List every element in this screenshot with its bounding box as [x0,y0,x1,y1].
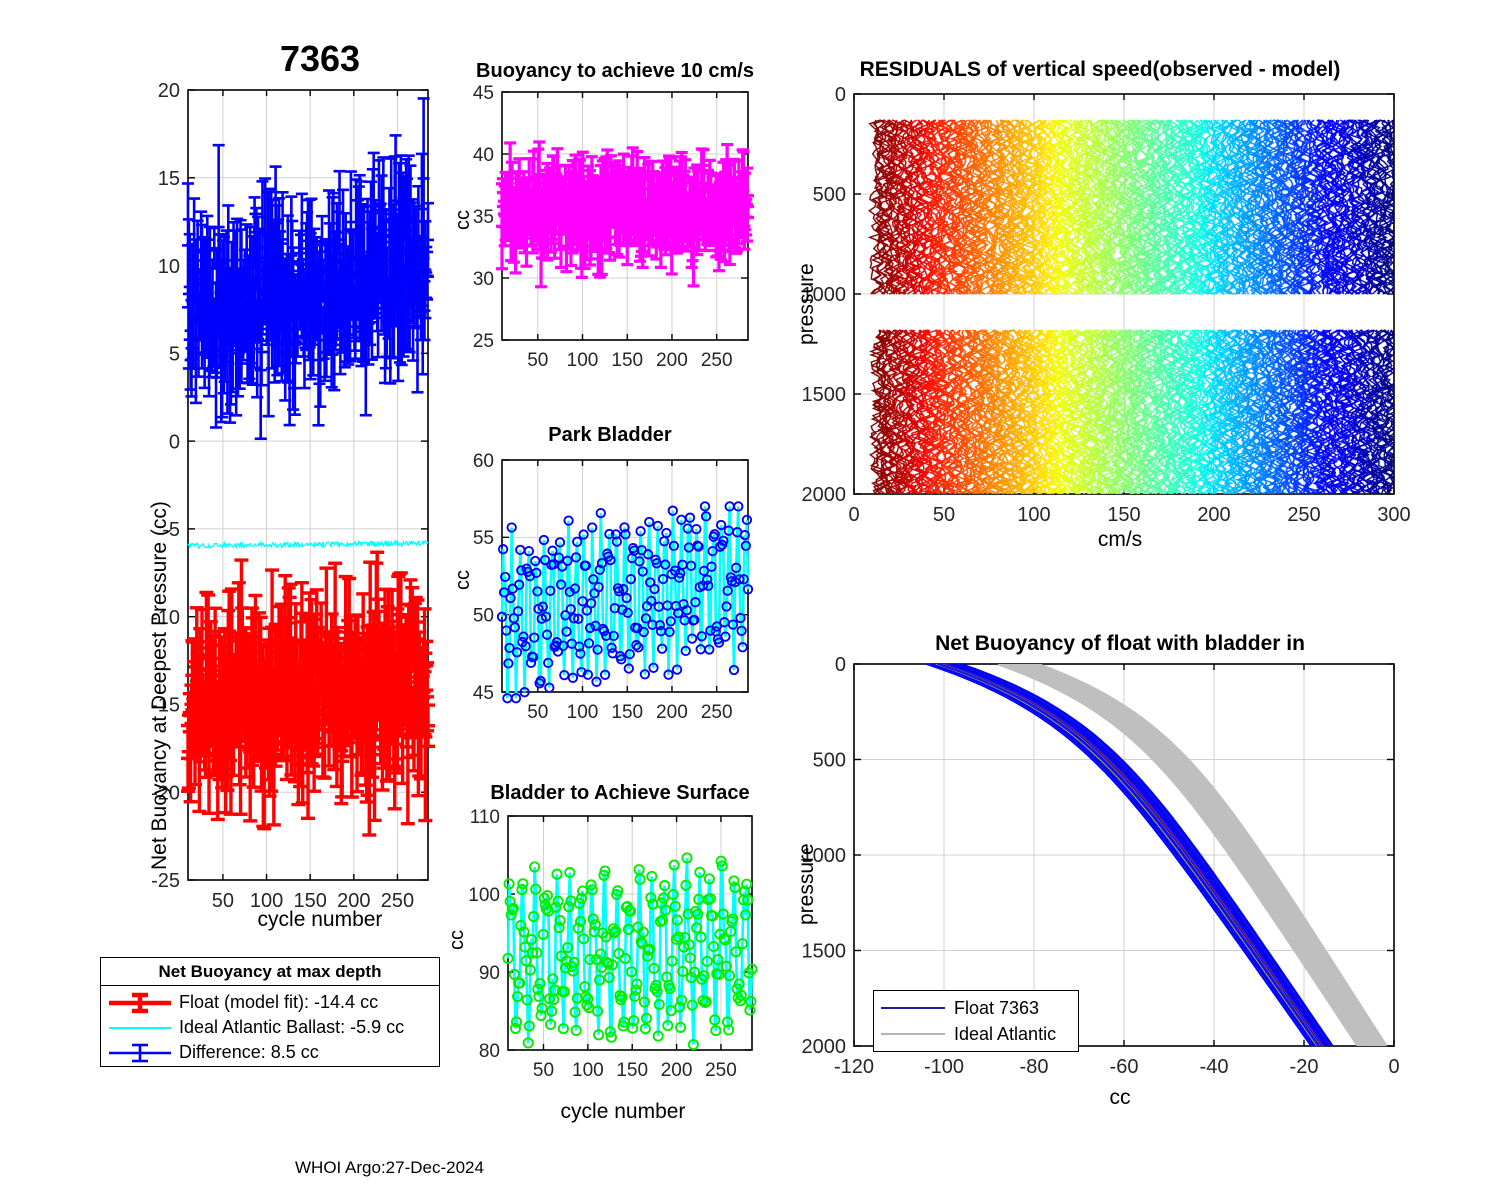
svg-text:250: 250 [701,350,733,371]
errorbar-red-icon [107,992,173,1014]
svg-text:0: 0 [848,504,859,526]
svg-text:0: 0 [835,654,846,676]
svg-text:60: 60 [473,451,494,472]
svg-text:25: 25 [473,331,494,352]
net-buoyancy-y-axis-label: Net Buoyancy at Deepest Pressure (cc) [148,501,172,870]
svg-text:30: 30 [473,269,494,290]
legend-label-float-model-fit: Float (model fit): -14.4 cc [179,992,378,1013]
net-buoyancy-x-axis-label: cycle number [195,908,445,932]
svg-text:15: 15 [158,168,180,190]
svg-text:-40: -40 [1200,1056,1229,1078]
buoyancy-10cms-plot: 501001502002504540353025 [440,80,770,380]
svg-text:0: 0 [1388,1056,1399,1078]
svg-text:2000: 2000 [802,484,847,506]
svg-text:-120: -120 [834,1056,874,1078]
svg-text:80: 80 [479,1041,500,1062]
residuals-x-axis-label: cm/s [850,528,1390,552]
buoyancy10-y-axis-label: cc [452,210,475,230]
svg-text:500: 500 [813,184,846,206]
svg-text:250: 250 [705,1060,737,1081]
svg-text:5: 5 [169,344,180,366]
svg-text:100: 100 [567,702,599,723]
svg-text:150: 150 [1107,504,1140,526]
net-buoyancy-legend-title: Net Buoyancy at max depth [101,958,439,986]
panel-residuals: 0501001502002503000500100015002000 [790,80,1410,550]
svg-text:-20: -20 [1290,1056,1319,1078]
figure-footer: WHOI Argo:27-Dec-2024 [295,1158,484,1178]
svg-text:0: 0 [169,431,180,453]
svg-text:150: 150 [611,350,643,371]
net-buoyancy-plot: 5010015020025020151050-5-10-15-20-25 [0,0,460,960]
svg-text:200: 200 [1197,504,1230,526]
svg-text:-100: -100 [924,1056,964,1078]
svg-text:200: 200 [656,702,688,723]
svg-text:50: 50 [527,702,548,723]
legend-item-difference: Difference: 8.5 cc [107,1040,433,1065]
legend-item-ideal-atlantic-ballast: Ideal Atlantic Ballast: -5.9 cc [107,1015,433,1040]
park-bladder-plot: 5010015020025060555045 [440,444,770,734]
panel-net-buoyancy: 5010015020025020151050-5-10-15-20-25 [0,0,460,960]
panel-buoyancy-10cms: 501001502002504540353025 [440,80,770,380]
svg-text:40: 40 [473,145,494,166]
svg-text:45: 45 [473,83,494,104]
profile-x-axis-label: cc [850,1086,1390,1110]
svg-text:50: 50 [473,606,494,627]
residuals-y-axis-label: pressure [795,263,819,345]
svg-text:55: 55 [473,528,494,549]
svg-text:50: 50 [533,1060,554,1081]
residuals-title: RESIDUALS of vertical speed(observed - m… [790,58,1410,82]
surface-bladder-y-axis-label: cc [446,930,469,950]
line-navy-icon [878,1001,948,1015]
svg-text:-25: -25 [151,870,180,892]
svg-text:250: 250 [1287,504,1320,526]
net-buoyancy-legend: Net Buoyancy at max depth Float (model f… [100,957,440,1067]
svg-text:200: 200 [661,1060,693,1081]
svg-text:20: 20 [158,80,180,102]
svg-text:90: 90 [479,963,500,984]
svg-text:150: 150 [611,702,643,723]
svg-text:200: 200 [656,350,688,371]
profile-legend: Float 7363 Ideal Atlantic [873,990,1079,1052]
svg-text:10: 10 [158,256,180,278]
svg-text:50: 50 [933,504,955,526]
legend-item-float: Float 7363 [878,995,1074,1021]
svg-text:300: 300 [1377,504,1410,526]
panel-bladder-surface: 501001502002501101009080 [440,800,770,1090]
svg-text:100: 100 [567,350,599,371]
svg-text:2000: 2000 [802,1036,847,1058]
legend-label-float: Float 7363 [954,998,1039,1019]
svg-text:-60: -60 [1110,1056,1139,1078]
svg-text:1500: 1500 [802,384,847,406]
legend-label-ideal-atlantic: Ideal Atlantic [954,1024,1056,1045]
svg-text:35: 35 [473,207,494,228]
svg-text:1500: 1500 [802,941,847,963]
svg-text:-80: -80 [1020,1056,1049,1078]
profile-y-axis-label: pressure [795,843,819,925]
residuals-plot: 0501001502002503000500100015002000 [790,80,1410,550]
line-gray-icon [878,1027,948,1041]
bladder-surface-plot: 501001502002501101009080 [440,800,770,1090]
svg-text:500: 500 [813,750,846,772]
svg-text:100: 100 [468,885,500,906]
park-bladder-y-axis-label: cc [452,570,475,590]
line-cyan-icon [107,1017,173,1039]
legend-label-difference: Difference: 8.5 cc [179,1042,319,1063]
errorbar-blue-icon [107,1042,173,1064]
svg-text:100: 100 [1017,504,1050,526]
legend-label-ideal-atlantic-ballast: Ideal Atlantic Ballast: -5.9 cc [179,1017,404,1038]
panel-park-bladder: 5010015020025060555045 [440,444,770,734]
svg-text:150: 150 [616,1060,648,1081]
legend-item-float-model-fit: Float (model fit): -14.4 cc [107,990,433,1015]
svg-text:0: 0 [835,84,846,106]
svg-text:50: 50 [527,350,548,371]
svg-text:45: 45 [473,683,494,704]
svg-text:110: 110 [470,807,500,828]
legend-item-ideal-atlantic: Ideal Atlantic [878,1021,1074,1047]
surface-bladder-x-axis-label: cycle number [478,1100,768,1124]
svg-text:100: 100 [572,1060,604,1081]
svg-text:250: 250 [701,702,733,723]
